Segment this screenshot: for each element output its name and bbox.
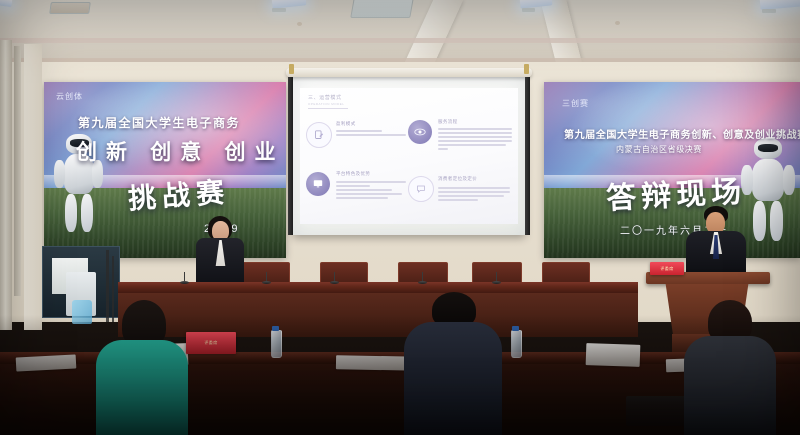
conference-room-photo: 云创体 第九届全国大学生电子商务 创新 创意 创业 挑战赛 2019 三创赛 第…: [0, 0, 800, 435]
left-banner-logo: 云创体: [56, 91, 83, 102]
screen-rail-right: [525, 77, 530, 235]
slide-quadrant-2-body: [438, 128, 512, 152]
left-banner-line1: 第九届全国大学生电子商务: [78, 114, 240, 131]
microphone-3: [330, 272, 340, 284]
audience-right-torso: [684, 336, 776, 435]
slide-quadrant-3: 平台特色及优势: [306, 170, 406, 220]
chair-2[interactable]: [320, 262, 366, 284]
audience-left-torso: [96, 340, 188, 435]
slide-quadrant-4-heading: 消费者定位及定价: [438, 176, 477, 182]
screen-bracket-left: [289, 64, 294, 74]
ceiling-light-3-cap: [522, 8, 535, 12]
ceiling-light-2-cap: [272, 8, 286, 12]
head-table-top: [118, 282, 638, 293]
slide-quadrant-2-heading: 服务流程: [438, 119, 458, 125]
podium-placard-text: 评委席: [660, 266, 673, 272]
audience-placard: 评委席: [186, 332, 236, 354]
slide-quadrant-2: 服务流程: [408, 118, 512, 176]
right-banner-line1: 第九届全国大学生电子商务创新、创意及创业挑战赛: [564, 126, 800, 141]
pen-document-glyph: [314, 130, 325, 141]
slide-quadrant-1: 盈利模式: [306, 120, 406, 160]
head-table-front: [118, 293, 638, 337]
chair-5[interactable]: [542, 262, 588, 284]
monitor-glyph: [312, 178, 324, 190]
microphone-4: [418, 272, 428, 284]
left-banner-headline: 挑战赛: [127, 170, 232, 217]
right-banner-logo: 三创赛: [562, 98, 589, 109]
monitor-icon: [306, 172, 330, 196]
audience-right-person: [684, 300, 776, 435]
pen-document-icon: [306, 122, 332, 148]
speech-bubble-glyph: [416, 184, 427, 195]
papers-right-stack: [586, 343, 641, 367]
slide-quadrant-1-body: [336, 130, 414, 138]
ceiling-fixture-dot: [297, 22, 302, 26]
podium-placard: 评委席: [650, 262, 684, 275]
ceiling-light-4-cap: [762, 9, 776, 13]
target-eye-icon: [408, 120, 432, 144]
panelist-person: [192, 216, 248, 282]
door-frame-left-inner: [14, 46, 21, 296]
microphone-5: [492, 272, 502, 284]
speaker-person: [686, 206, 748, 278]
water-bottle-center: [511, 330, 522, 358]
right-banner: 三创赛 第九届全国大学生电子商务创新、创意及创业挑战赛 内蒙古自治区省级决赛 答…: [544, 82, 800, 258]
screen-roller-case: [286, 68, 532, 77]
water-bottle-left: [271, 330, 282, 358]
speech-bubble-icon: [408, 176, 434, 202]
slide-title-rule: [308, 108, 348, 109]
microphone-2: [262, 272, 272, 284]
left-banner-line2: 创新 创意 创业: [76, 136, 285, 166]
water-bottle-left-cap: [272, 326, 279, 331]
slide-quadrant-1-heading: 盈利模式: [336, 121, 356, 127]
slide-quadrant-4-body: [438, 187, 510, 203]
screen-bracket-right: [524, 64, 529, 74]
screen-rail-left: [288, 77, 293, 235]
slide-quadrant-3-body: [336, 181, 406, 201]
cornice-molding: [0, 38, 800, 43]
left-banner: 云创体 第九届全国大学生电子商务 创新 创意 创业 挑战赛 2019: [44, 82, 286, 258]
slide-quadrant-3-heading: 平台特色及优势: [336, 171, 370, 177]
audience-center-person: [404, 292, 502, 435]
wall-column: [24, 44, 42, 330]
right-banner-robot: [740, 138, 796, 250]
ceiling-fixture-dot-2: [615, 21, 620, 25]
audience-center-torso: [404, 322, 502, 435]
right-banner-line2: 内蒙古自治区省级决赛: [616, 144, 702, 155]
water-bottle-center-cap: [512, 326, 519, 331]
slide-quadrant-4: 消费者定位及定价: [408, 176, 512, 220]
audience-left-person: [96, 300, 188, 435]
door-frame-left: [0, 40, 12, 330]
microphone-1: [180, 272, 190, 284]
ceiling-vent: [350, 0, 414, 18]
slide-subtitle: OPERATION MODEL: [308, 102, 344, 106]
handbag-right: [626, 396, 688, 426]
slide-title: 三、运营模式: [308, 94, 342, 101]
presentation-slide: 三、运营模式 OPERATION MODEL 盈利模式: [300, 88, 518, 224]
ceiling-speaker: [49, 2, 91, 14]
water-jug: [72, 300, 92, 324]
target-eye-glyph: [414, 126, 427, 139]
audience-placard-text: 评委席: [204, 340, 217, 346]
